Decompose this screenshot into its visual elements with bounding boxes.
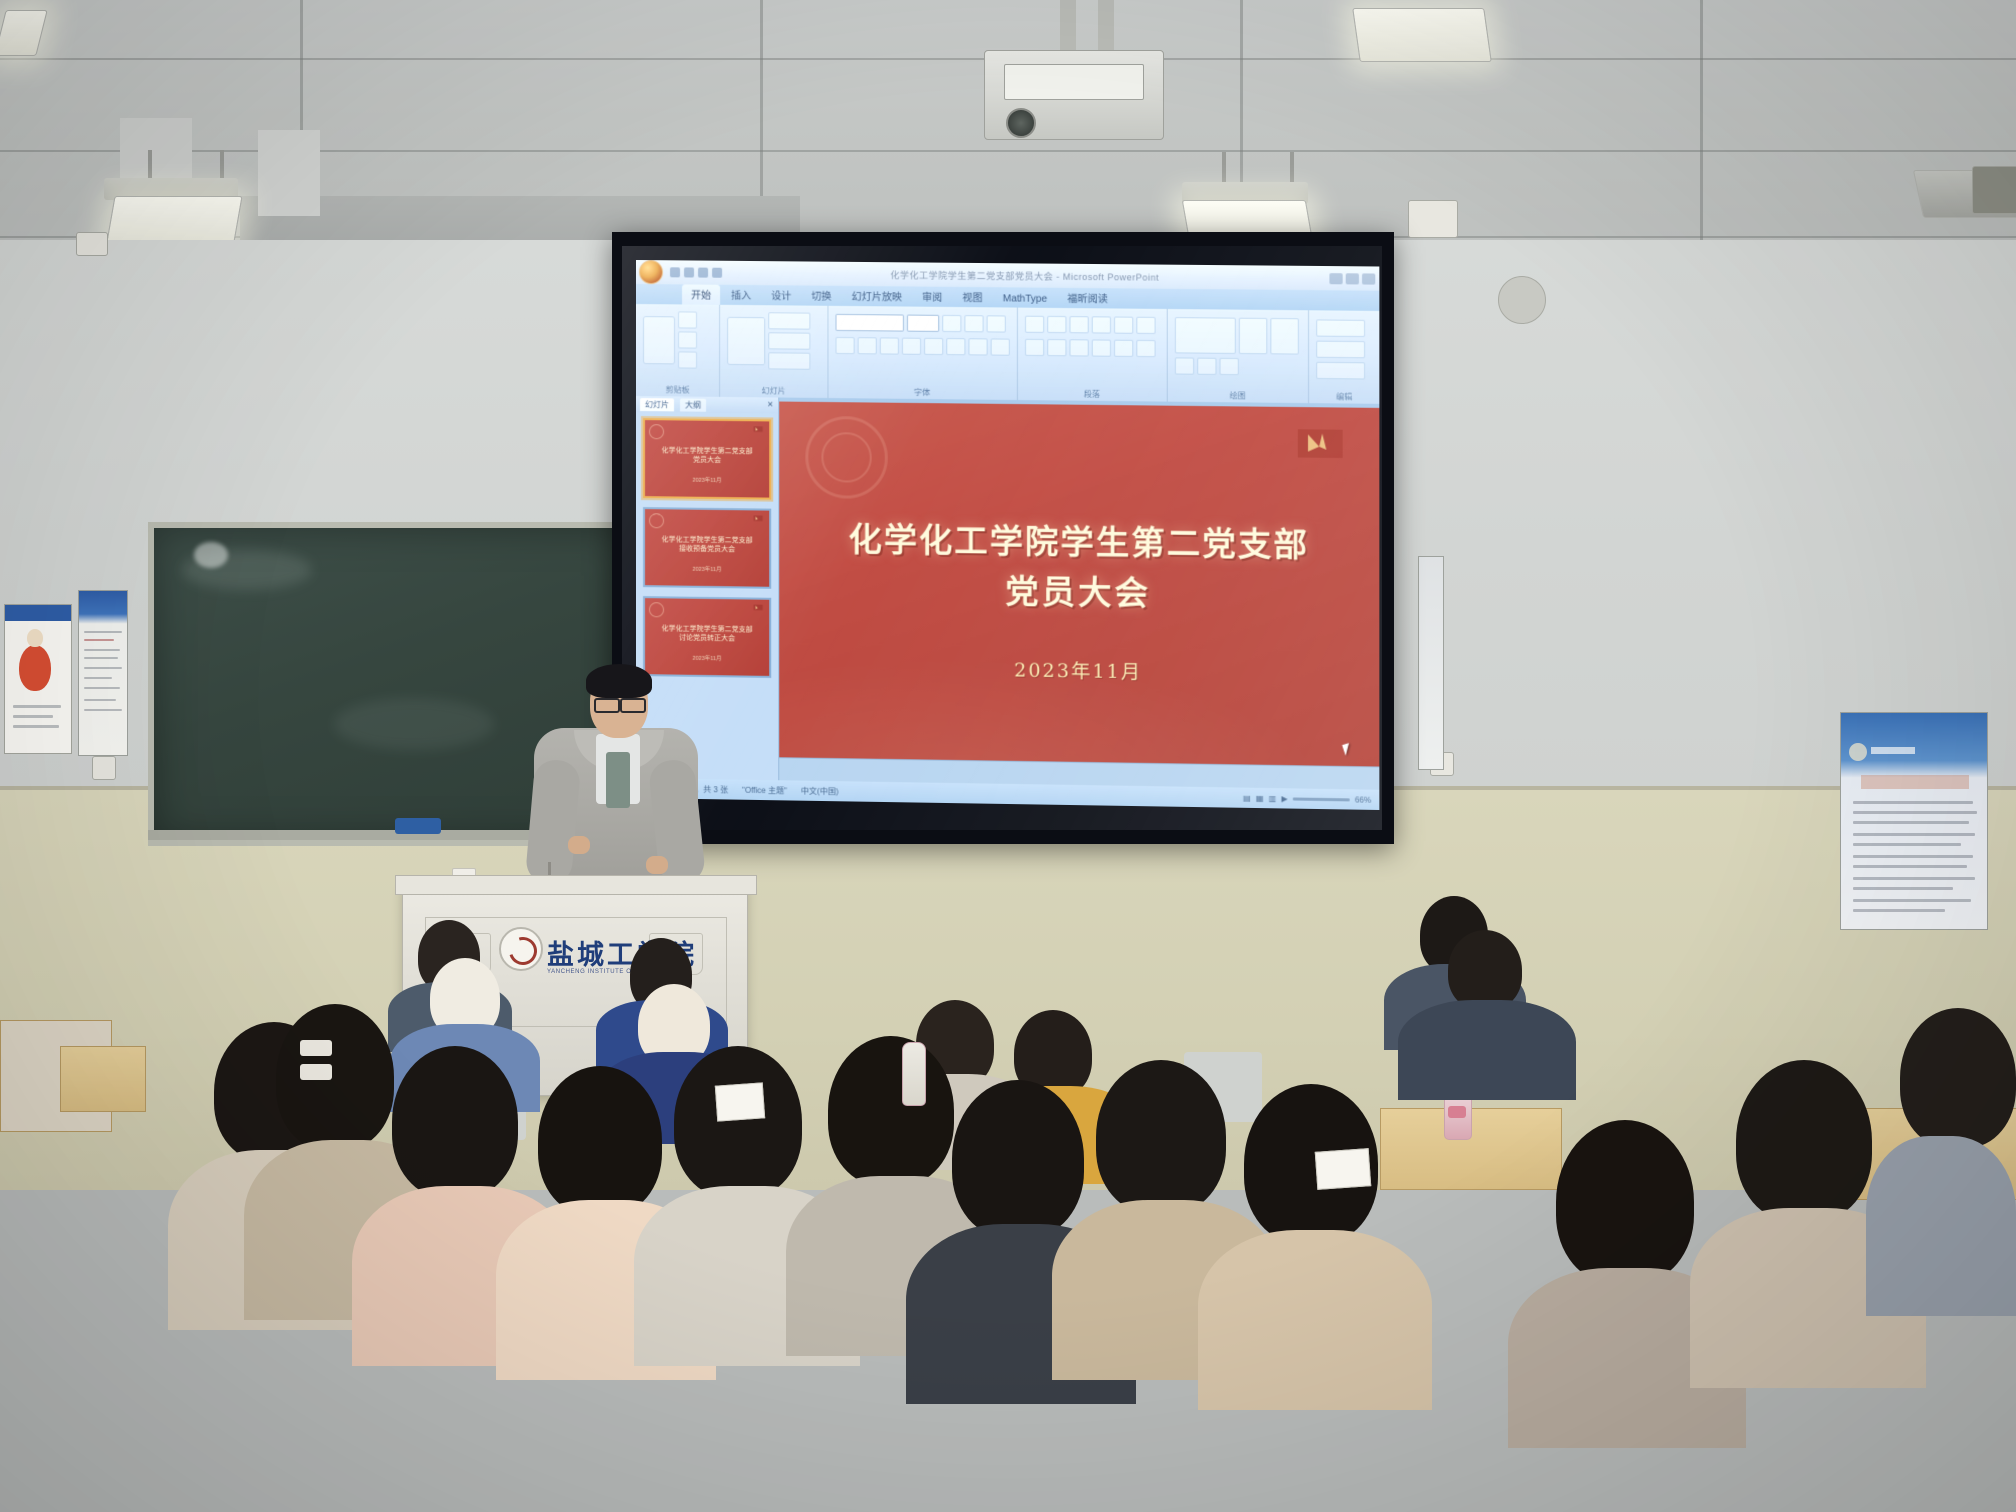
emblem-icon	[649, 424, 664, 439]
pane-tab-outline[interactable]: 大纲	[680, 398, 706, 411]
shape-outline-icon[interactable]	[1197, 358, 1216, 375]
ribbon-group-paragraph: 段落	[1017, 308, 1167, 402]
audience-head	[952, 1080, 1084, 1238]
audience-head	[1448, 930, 1522, 1010]
save-icon[interactable]	[670, 267, 680, 277]
handout-paper	[1315, 1148, 1372, 1190]
language: 中文(中国)	[801, 785, 839, 797]
slide-thumbnail-3[interactable]: 化学化工学院学生第二党支部 讨论党员转正大会 2023年11月	[643, 596, 771, 678]
change-case-icon[interactable]	[968, 338, 987, 355]
restore-icon[interactable]	[1346, 273, 1359, 284]
handout-paper	[715, 1082, 765, 1121]
slideshow-icon[interactable]: ▶	[1281, 794, 1287, 803]
view-sorter-icon[interactable]: ▦	[1256, 793, 1264, 802]
tab-insert[interactable]: 插入	[722, 285, 760, 305]
slide-thumbnail-list[interactable]: 化学化工学院学生第二党支部 党员大会 2023年11月 化学化工学院学生第二党支…	[636, 412, 778, 684]
university-logo-icon	[499, 927, 543, 971]
university-emblem-icon	[805, 416, 887, 499]
audience-head	[828, 1036, 954, 1186]
slides-pane-tabs[interactable]: 幻灯片 大纲 ×	[636, 396, 778, 414]
thumb-title-line2: 接收预备党员大会	[645, 544, 769, 555]
shrink-font-icon[interactable]	[964, 315, 983, 332]
arrange-icon[interactable]	[1239, 318, 1267, 355]
desk	[60, 1046, 146, 1112]
quick-access-toolbar[interactable]	[670, 267, 722, 277]
pane-tab-slides[interactable]: 幻灯片	[640, 398, 674, 411]
paste-icon[interactable]	[643, 316, 675, 364]
tab-foxit[interactable]: 福昕阅读	[1058, 288, 1117, 309]
audience-shoulder	[1398, 1000, 1576, 1100]
bullets-icon[interactable]	[1025, 316, 1044, 333]
smartart-icon[interactable]	[1136, 340, 1155, 357]
font-name-box[interactable]	[835, 314, 903, 332]
grow-font-icon[interactable]	[942, 315, 961, 332]
presenter	[534, 668, 698, 908]
audience-hair-clip-icon	[300, 1064, 332, 1080]
bottle-cap-icon	[1448, 1106, 1466, 1118]
numbering-icon[interactable]	[1047, 316, 1066, 333]
wall-notice-right	[1840, 712, 1988, 930]
tab-slideshow[interactable]: 幻灯片放映	[843, 286, 911, 307]
thumb-date: 2023年11月	[645, 476, 769, 486]
audience-head	[276, 1004, 394, 1150]
char-spacing-icon[interactable]	[946, 338, 965, 355]
photo-scene: 化学化工学院学生第二党支部党员大会 - Microsoft PowerPoint…	[0, 0, 2016, 1512]
view-reading-icon[interactable]: ▥	[1269, 794, 1277, 803]
editor-work-area: 幻灯片 大纲 × 化学化工学院学生第二党支部 党员大会	[636, 396, 1379, 790]
wall-box	[1972, 166, 2016, 214]
clear-format-icon[interactable]	[986, 315, 1005, 332]
tab-review[interactable]: 审阅	[913, 287, 951, 307]
slide-title-line2: 党员大会	[779, 562, 1379, 618]
italic-icon[interactable]	[857, 337, 876, 354]
wall-notice-right-secondary	[1418, 556, 1444, 770]
undo-icon[interactable]	[684, 267, 694, 277]
section-icon[interactable]	[768, 352, 810, 369]
zoom-control[interactable]: ▤ ▦ ▥ ▶ 66%	[1243, 793, 1371, 804]
ribbon-group-slides: 幻灯片	[720, 305, 828, 398]
wall-outlet-box	[1408, 200, 1458, 238]
audience-head	[1900, 1008, 2016, 1148]
text-direction-icon[interactable]	[1136, 317, 1155, 334]
zoom-level: 66%	[1355, 795, 1371, 804]
audience-head	[392, 1046, 518, 1198]
audience-hair-clip-icon	[300, 1040, 332, 1056]
tab-home[interactable]: 开始	[682, 284, 720, 304]
ribbon-group-font: 字体	[828, 306, 1017, 400]
blackboard-eraser	[395, 818, 441, 834]
underline-icon[interactable]	[879, 337, 898, 354]
view-normal-icon[interactable]: ▤	[1243, 793, 1251, 802]
select-icon[interactable]	[1316, 362, 1365, 380]
tab-mathtype[interactable]: MathType	[994, 291, 1057, 308]
wall-socket	[92, 756, 116, 780]
slide-canvas-area[interactable]: 化学化工学院学生第二党支部 党员大会 2023年11月	[779, 398, 1379, 790]
current-slide[interactable]: 化学化工学院学生第二党支部 党员大会 2023年11月	[779, 402, 1379, 768]
office-orb-icon[interactable]	[639, 260, 663, 284]
party-flag-icon	[752, 425, 764, 436]
zoom-slider[interactable]	[1293, 797, 1350, 801]
ribbon-group-editing: 编辑	[1309, 310, 1379, 404]
close-pane-icon[interactable]: ×	[767, 398, 773, 411]
columns-icon[interactable]	[1114, 340, 1133, 357]
layout-icon[interactable]	[768, 312, 810, 329]
find-icon[interactable]	[1316, 319, 1365, 337]
bold-icon[interactable]	[835, 337, 854, 354]
quick-styles-icon[interactable]	[1270, 318, 1298, 355]
audience-head	[1556, 1120, 1694, 1284]
replace-icon[interactable]	[1316, 341, 1365, 359]
indent-increase-icon[interactable]	[1091, 316, 1110, 333]
new-slide-icon[interactable]	[727, 316, 765, 364]
wall-calendar	[4, 604, 72, 754]
audience-shoulder	[1198, 1230, 1432, 1410]
indent-decrease-icon[interactable]	[1069, 316, 1088, 333]
emblem-icon	[649, 513, 664, 528]
strikethrough-icon[interactable]	[924, 338, 943, 355]
audience-shoulder	[1866, 1136, 2016, 1316]
close-icon[interactable]	[1362, 273, 1375, 284]
projection-screen: 化学化工学院学生第二党支部党员大会 - Microsoft PowerPoint…	[622, 246, 1382, 830]
wall-notice-left	[78, 590, 128, 756]
party-flag-icon	[752, 514, 764, 525]
shape-fill-icon[interactable]	[1175, 357, 1194, 374]
audience-head	[538, 1066, 662, 1216]
line-spacing-icon[interactable]	[1114, 317, 1133, 334]
justify-icon[interactable]	[1091, 339, 1110, 356]
wall-speaker	[1498, 276, 1546, 324]
audience-head	[1096, 1060, 1226, 1214]
group-label-slides: 幻灯片	[720, 385, 827, 397]
presenter-hand	[568, 836, 590, 854]
shape-effects-icon[interactable]	[1219, 358, 1238, 375]
wall-socket	[76, 232, 108, 256]
powerpoint-window: 化学化工学院学生第二党支部党员大会 - Microsoft PowerPoint…	[636, 260, 1379, 810]
tab-transitions[interactable]: 切换	[802, 286, 840, 306]
thumb-title-line2: 党员大会	[645, 455, 769, 465]
thumb-date: 2023年11月	[645, 565, 769, 576]
emblem-icon	[649, 602, 664, 617]
reset-icon[interactable]	[768, 332, 810, 349]
format-painter-icon[interactable]	[678, 351, 697, 368]
font-color-icon[interactable]	[990, 338, 1009, 355]
party-emblem-icon	[1292, 423, 1349, 474]
font-size-box[interactable]	[906, 315, 938, 332]
audience-head	[1736, 1060, 1872, 1222]
tab-design[interactable]: 设计	[762, 285, 800, 305]
align-left-icon[interactable]	[1025, 339, 1044, 356]
minimize-icon[interactable]	[1329, 273, 1342, 284]
party-flag-icon	[752, 604, 764, 615]
water-bottle	[902, 1042, 926, 1106]
customize-icon[interactable]	[712, 268, 722, 278]
slide-thumbnail-2[interactable]: 化学化工学院学生第二党支部 接收预备党员大会 2023年11月	[643, 507, 771, 589]
ribbon-group-drawing: 绘图	[1167, 309, 1309, 403]
ribbon[interactable]: 剪贴板 幻灯片	[636, 304, 1379, 405]
audience-head	[674, 1046, 802, 1198]
group-label-drawing: 绘图	[1167, 390, 1308, 403]
window-title-text: 化学化工学院学生第二党支部党员大会 - Microsoft PowerPoint	[722, 266, 1329, 284]
window-buttons[interactable]	[1329, 273, 1375, 285]
group-label-clipboard: 剪贴板	[636, 384, 719, 396]
thumb-date: 2023年11月	[645, 654, 769, 665]
copy-icon[interactable]	[678, 331, 697, 348]
group-label-paragraph: 段落	[1017, 388, 1166, 401]
tab-view[interactable]: 视图	[953, 287, 991, 307]
slide-title-line1: 化学化工学院学生第二党支部	[779, 512, 1379, 568]
shadow-icon[interactable]	[901, 338, 920, 355]
cut-icon[interactable]	[678, 311, 697, 328]
align-right-icon[interactable]	[1069, 339, 1088, 356]
align-center-icon[interactable]	[1047, 339, 1066, 356]
shapes-gallery[interactable]	[1175, 317, 1236, 354]
theme-name: "Office 主题"	[742, 784, 787, 796]
thumb-title-line2: 讨论党员转正大会	[645, 633, 769, 644]
slide-thumbnail-1[interactable]: 化学化工学院学生第二党支部 党员大会 2023年11月	[643, 418, 771, 500]
redo-icon[interactable]	[698, 268, 708, 278]
ribbon-group-clipboard: 剪贴板	[636, 304, 720, 397]
group-label-font: 字体	[828, 386, 1016, 399]
group-label-editing: 编辑	[1309, 391, 1379, 403]
